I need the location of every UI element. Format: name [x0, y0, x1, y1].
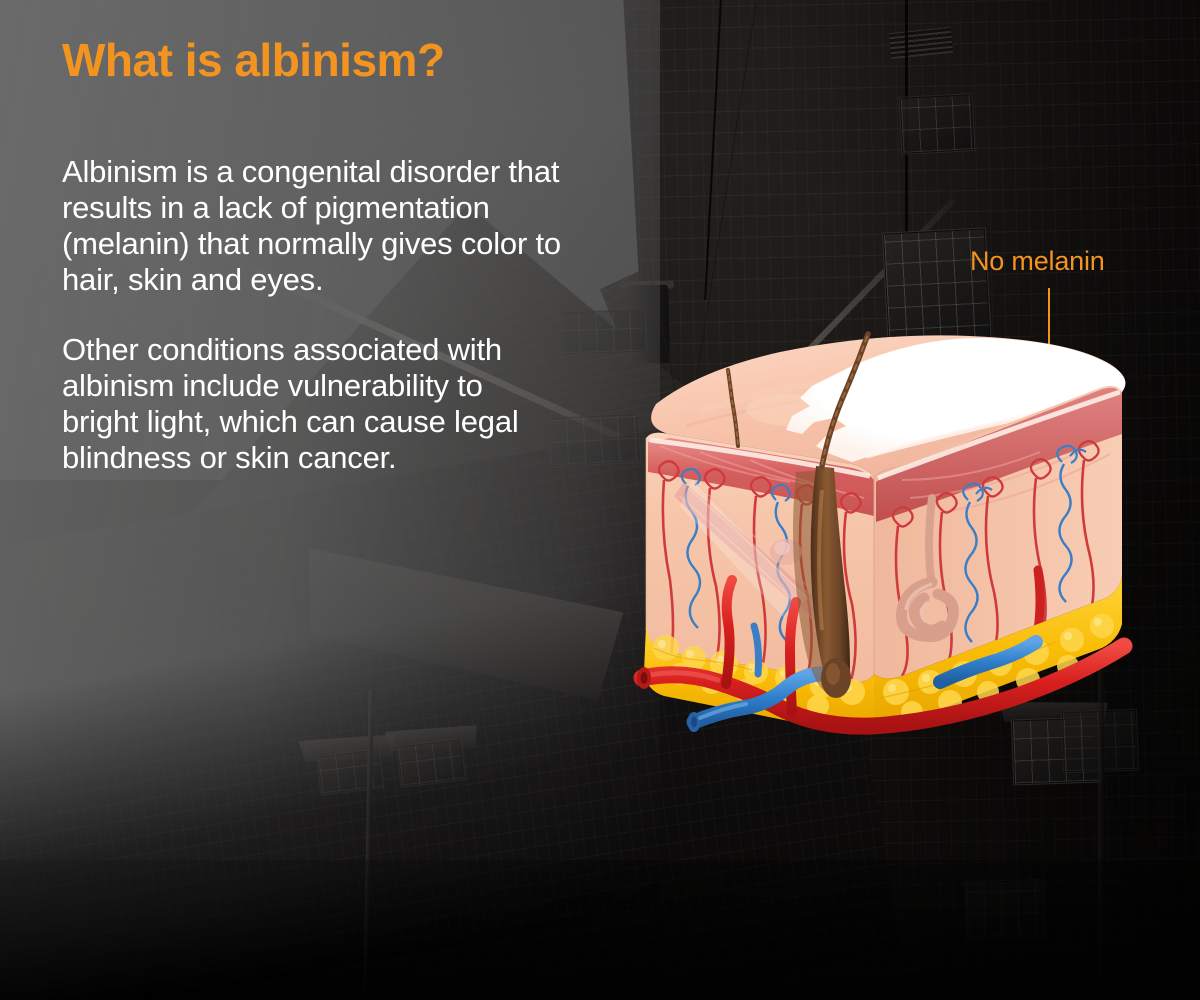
body-paragraph-2: Other conditions associated with albinis… [62, 332, 562, 476]
skin-cross-section-diagram [640, 330, 1160, 760]
text-column: What is albinism? Albinism is a congenit… [62, 36, 562, 476]
page-title: What is albinism? [62, 36, 562, 84]
body-paragraph-1: Albinism is a congenital disorder that r… [62, 154, 562, 298]
paragraph-spacer [62, 298, 562, 332]
infographic-canvas: What is albinism? Albinism is a congenit… [0, 0, 1200, 1000]
callout-label-no-melanin: No melanin [970, 246, 1105, 277]
